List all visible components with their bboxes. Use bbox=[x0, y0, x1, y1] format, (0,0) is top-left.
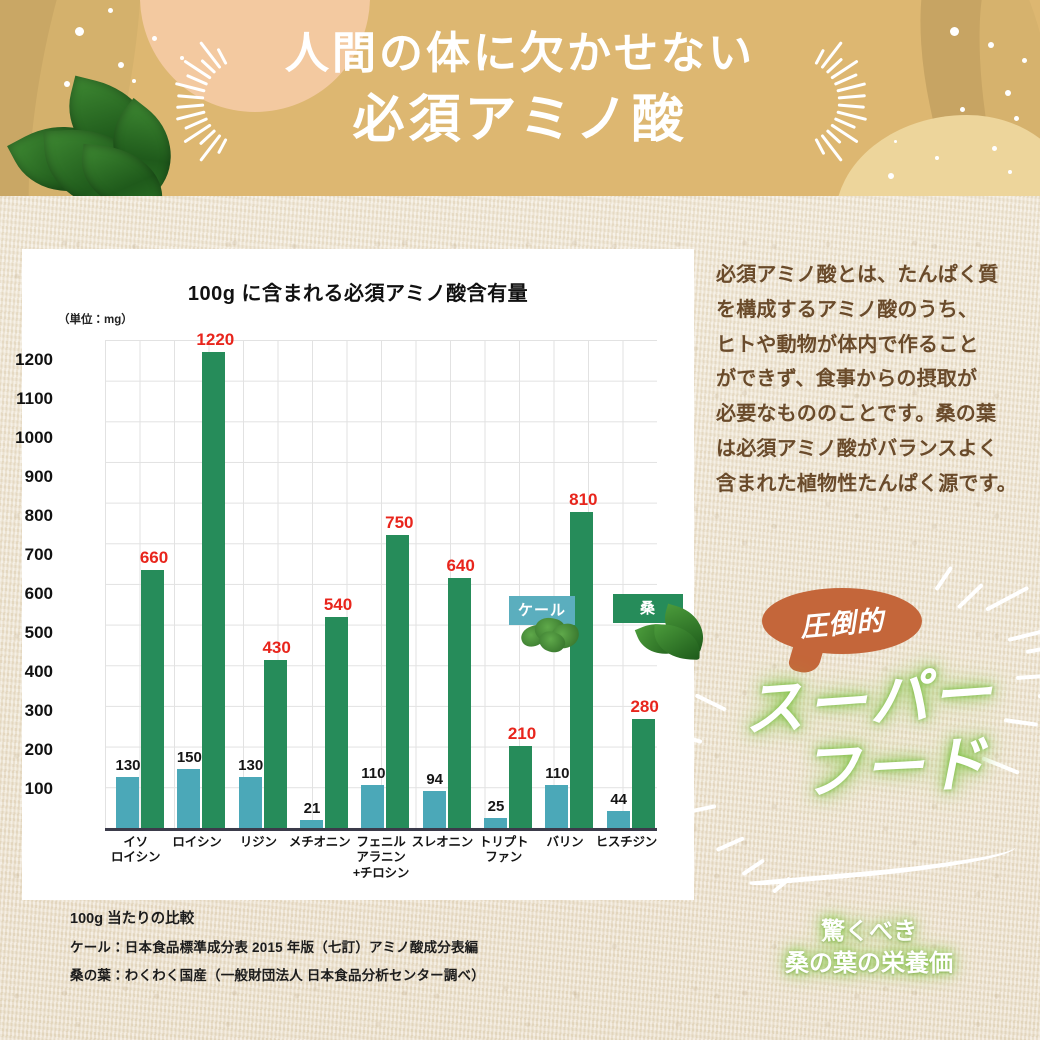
description-line: 必須アミノ酸とは、たんぱく質 bbox=[716, 258, 1024, 293]
bar-mulberry bbox=[264, 660, 287, 828]
bar-value-label-mulberry: 1220 bbox=[194, 331, 236, 348]
bar-kale bbox=[300, 820, 323, 828]
bar-mulberry bbox=[632, 719, 655, 828]
y-axis-tick-label: 500 bbox=[0, 623, 53, 643]
description-line: ができず、食事からの摂取が bbox=[716, 362, 1024, 397]
bar-group: 130660 bbox=[112, 340, 168, 828]
bar-mulberry bbox=[141, 570, 164, 828]
footnotes: 100g 当たりの比較 ケール：日本食品標準成分表 2015 年版（七訂）アミノ… bbox=[70, 912, 485, 984]
bar-mulberry bbox=[509, 746, 532, 828]
bar-value-label-mulberry: 430 bbox=[256, 639, 298, 656]
y-axis-tick-label: 800 bbox=[0, 506, 53, 526]
bar-value-label-kale: 110 bbox=[352, 766, 394, 781]
kicker-line2: 桑の葉の栄養価 bbox=[700, 948, 1038, 980]
infographic-root: 人間の体に欠かせない 必須アミノ酸 100g に含まれる必須アミノ酸含有量 （単… bbox=[0, 0, 1040, 1040]
bar-kale bbox=[361, 785, 384, 828]
superfood-headline: スーパー フード bbox=[700, 672, 1038, 800]
bar-mulberry bbox=[448, 578, 471, 828]
bar-kale bbox=[177, 769, 200, 828]
bar-value-label-kale: 130 bbox=[230, 758, 272, 773]
bar-value-label-kale: 94 bbox=[414, 772, 456, 787]
bar-value-label-kale: 150 bbox=[168, 750, 210, 765]
bar-kale bbox=[116, 777, 139, 828]
description-line: 必要なもののことです。桑の葉 bbox=[716, 397, 1024, 432]
y-axis-tick-label: 600 bbox=[0, 584, 53, 604]
chart-card: 100g に含まれる必須アミノ酸含有量 （単位：mg） 100200300400… bbox=[22, 249, 694, 900]
bar-value-label-mulberry: 750 bbox=[378, 514, 420, 531]
header-title-line1: 人間の体に欠かせない bbox=[0, 32, 1040, 76]
y-axis-tick-label: 700 bbox=[0, 545, 53, 565]
footnote-line-0: 100g 当たりの比較 bbox=[70, 912, 485, 928]
bar-value-label-kale: 110 bbox=[536, 766, 578, 781]
bar-kale bbox=[607, 811, 630, 828]
description-line: は必須アミノ酸がバランスよく bbox=[716, 432, 1024, 467]
description-line: ヒトや動物が体内で作ること bbox=[716, 328, 1024, 363]
bar-group: 110810 bbox=[541, 340, 597, 828]
bar-group: 44280 bbox=[603, 340, 659, 828]
sparkle-line bbox=[716, 836, 745, 852]
y-axis-tick-label: 100 bbox=[0, 779, 53, 799]
bar-group: 25210 bbox=[480, 340, 536, 828]
y-axis-tick-label: 200 bbox=[0, 740, 53, 760]
y-axis-tick-label: 1100 bbox=[0, 389, 53, 409]
bar-kale bbox=[545, 785, 568, 828]
sparkle-line bbox=[985, 586, 1029, 612]
chart-title: 100g に含まれる必須アミノ酸含有量 bbox=[22, 277, 694, 306]
description-line: 含まれた植物性たんぱく源です。 bbox=[716, 467, 1024, 502]
footnote-line-2: 桑の葉：わくわく国産（一般財団法人 日本食品分析センター調べ） bbox=[70, 969, 485, 984]
bar-group: 110750 bbox=[357, 340, 413, 828]
bar-value-label-mulberry: 540 bbox=[317, 596, 359, 613]
sparkle-line bbox=[1008, 629, 1040, 642]
footnote-line-1: ケール：日本食品標準成分表 2015 年版（七訂）アミノ酸成分表編 bbox=[70, 941, 485, 956]
header-banner: 人間の体に欠かせない 必須アミノ酸 bbox=[0, 0, 1040, 196]
y-axis-tick-label: 1000 bbox=[0, 428, 53, 448]
y-axis-tick-label: 300 bbox=[0, 701, 53, 721]
bar-mulberry bbox=[386, 535, 409, 828]
bar-value-label-mulberry: 810 bbox=[562, 491, 604, 508]
bar-kale bbox=[239, 777, 262, 828]
bar-value-label-kale: 130 bbox=[107, 758, 149, 773]
header-title-line2: 必須アミノ酸 bbox=[0, 94, 1040, 146]
y-axis-tick-label: 1200 bbox=[0, 350, 53, 370]
bar-kale bbox=[423, 791, 446, 828]
y-axis-tick-label: 400 bbox=[0, 662, 53, 682]
superfood-line1: スーパー bbox=[698, 660, 1039, 743]
bar-group: 94640 bbox=[419, 340, 475, 828]
header-title-block: 人間の体に欠かせない 必須アミノ酸 bbox=[0, 0, 1040, 146]
chart-bar-groups: 1306601501220130430215401107509464025210… bbox=[105, 340, 657, 828]
bar-group: 21540 bbox=[296, 340, 352, 828]
chart-unit-label: （単位：mg） bbox=[58, 311, 133, 327]
kicker-line1: 驚くべき bbox=[700, 916, 1038, 948]
sparkle-line bbox=[1026, 646, 1040, 654]
bar-group: 1501220 bbox=[173, 340, 229, 828]
bar-value-label-kale: 25 bbox=[475, 799, 517, 814]
bar-value-label-mulberry: 640 bbox=[440, 557, 482, 574]
bar-group: 130430 bbox=[235, 340, 291, 828]
kicker-text: 驚くべき 桑の葉の栄養価 bbox=[700, 916, 1038, 980]
kale-leaf-icon bbox=[519, 614, 581, 656]
bar-value-label-mulberry: 660 bbox=[133, 549, 175, 566]
bar-value-label-kale: 21 bbox=[291, 801, 333, 816]
bar-kale bbox=[484, 818, 507, 828]
chart-baseline-axis bbox=[105, 828, 657, 831]
bar-value-label-kale: 44 bbox=[598, 792, 640, 807]
x-axis-category-label: ヒスチジン bbox=[584, 835, 668, 850]
description-line: を構成するアミノ酸のうち、 bbox=[716, 293, 1024, 328]
bar-mulberry bbox=[325, 617, 348, 828]
description-paragraph: 必須アミノ酸とは、たんぱく質を構成するアミノ酸のうち、ヒトや動物が体内で作ること… bbox=[716, 258, 1024, 502]
bar-value-label-mulberry: 210 bbox=[501, 725, 543, 742]
y-axis-tick-label: 900 bbox=[0, 467, 53, 487]
bar-value-label-mulberry: 280 bbox=[624, 698, 666, 715]
